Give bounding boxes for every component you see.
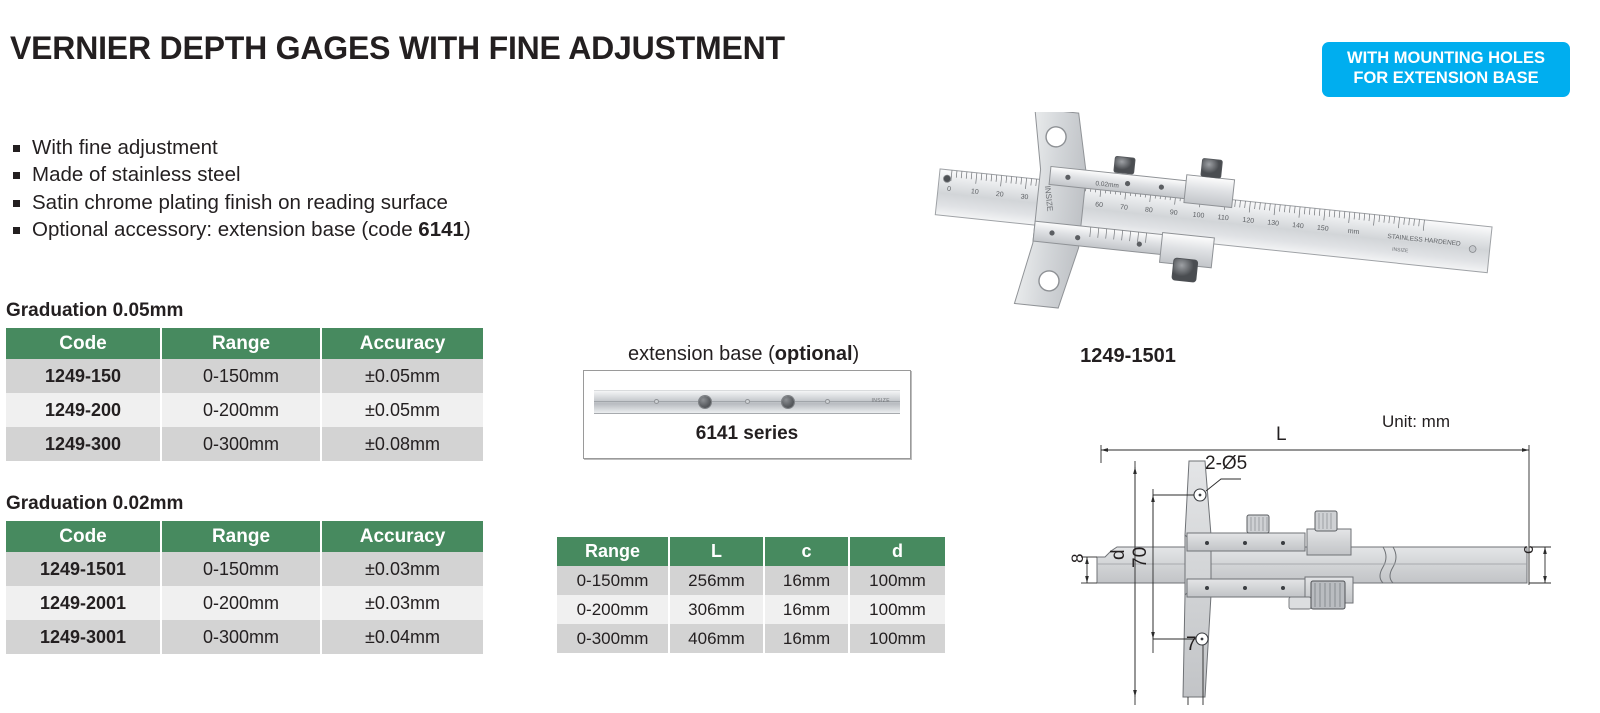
graduation-002-caption: Graduation 0.02mm	[6, 493, 183, 515]
column-header-accuracy: Accuracy	[321, 328, 483, 359]
cell-accuracy: ±0.05mm	[321, 393, 483, 427]
screw-post-icon	[782, 396, 794, 408]
cell-range: 0-200mm	[557, 595, 669, 624]
feature-code: 6141	[418, 218, 464, 241]
extension-caption-prefix: extension base (	[628, 343, 775, 365]
dimension-label-70: 70	[1130, 547, 1152, 568]
cell-range: 0-200mm	[161, 586, 321, 620]
svg-text:20: 20	[995, 191, 1004, 199]
dimension-label-holes: 2-Ø5	[1205, 453, 1247, 475]
column-header-c: c	[764, 537, 849, 566]
table-header-row: Code Range Accuracy	[6, 521, 483, 552]
screw-post-icon	[699, 396, 711, 408]
feature-list: With fine adjustment Made of stainless s…	[10, 134, 471, 243]
extension-caption-suffix: )	[853, 343, 860, 365]
feature-text: With fine adjustment	[32, 136, 218, 159]
table-row: 0-300mm 406mm 16mm 100mm	[557, 624, 945, 653]
extension-base-caption: extension base (optional)	[628, 343, 859, 366]
svg-text:120: 120	[1242, 217, 1254, 225]
column-header-range: Range	[161, 521, 321, 552]
cell-accuracy: ±0.03mm	[321, 552, 483, 586]
extension-base-photo-box: INSIZE 6141 series	[583, 370, 911, 459]
list-item: With fine adjustment	[10, 134, 471, 161]
cell-accuracy: ±0.08mm	[321, 427, 483, 461]
cell-code: 1249-300	[6, 427, 161, 461]
dimension-label-d: d	[1108, 549, 1130, 560]
product-photo: 0 10 20 30 40 50 60 70 80 90 100 110 120…	[895, 112, 1520, 334]
cell-l: 306mm	[669, 595, 764, 624]
svg-text:90: 90	[1169, 209, 1178, 217]
svg-text:70: 70	[1120, 204, 1129, 212]
cell-l: 406mm	[669, 624, 764, 653]
column-header-d: d	[849, 537, 945, 566]
cell-code: 1249-3001	[6, 620, 161, 654]
extension-caption-optional: optional	[775, 343, 853, 365]
feature-text: Satin chrome plating finish on reading s…	[32, 191, 448, 214]
column-header-accuracy: Accuracy	[321, 521, 483, 552]
graduation-005-caption: Graduation 0.05mm	[6, 300, 183, 322]
column-header-code: Code	[6, 328, 161, 359]
svg-text:110: 110	[1217, 214, 1229, 222]
dimensions-table: Range L c d 0-150mm 256mm 16mm 100mm 0-2…	[557, 537, 945, 653]
cell-accuracy: ±0.03mm	[321, 586, 483, 620]
dimension-label-L: L	[1276, 424, 1287, 446]
cell-range: 0-200mm	[161, 393, 321, 427]
svg-text:150: 150	[1317, 225, 1329, 233]
table-header-row: Code Range Accuracy	[6, 328, 483, 359]
dimension-label-7: 7	[1186, 634, 1197, 656]
table-row: 1249-300 0-300mm ±0.08mm	[6, 427, 483, 461]
list-item: Optional accessory: extension base (code…	[10, 216, 471, 243]
list-item: Satin chrome plating finish on reading s…	[10, 189, 471, 216]
cell-d: 100mm	[849, 566, 945, 595]
svg-text:60: 60	[1095, 201, 1104, 209]
svg-text:130: 130	[1267, 219, 1279, 227]
cell-code: 1249-2001	[6, 586, 161, 620]
cell-code: 1249-1501	[6, 552, 161, 586]
list-item: Made of stainless steel	[10, 161, 471, 188]
depth-gage-illustration: 0 10 20 30 40 50 60 70 80 90 100 110 120…	[895, 112, 1520, 334]
status-badge: WITH MOUNTING HOLES FOR EXTENSION BASE	[1322, 42, 1570, 97]
feature-text: Made of stainless steel	[32, 163, 241, 186]
cell-accuracy: ±0.04mm	[321, 620, 483, 654]
dimension-label-c: c	[1518, 546, 1538, 555]
mounting-hole-icon	[745, 399, 750, 404]
svg-text:100: 100	[1192, 212, 1204, 220]
table-row: 1249-150 0-150mm ±0.05mm	[6, 359, 483, 393]
table-row: 1249-3001 0-300mm ±0.04mm	[6, 620, 483, 654]
table-row: 0-200mm 306mm 16mm 100mm	[557, 595, 945, 624]
cell-c: 16mm	[764, 566, 849, 595]
cell-accuracy: ±0.05mm	[321, 359, 483, 393]
cell-range: 0-300mm	[161, 620, 321, 654]
feature-text-suffix: )	[464, 218, 471, 241]
column-header-range: Range	[161, 328, 321, 359]
cell-d: 100mm	[849, 624, 945, 653]
extension-base-series-label: 6141 series	[584, 423, 910, 445]
brand-mark: INSIZE	[871, 398, 890, 404]
column-header-range: Range	[557, 537, 669, 566]
extension-base-bar-image: INSIZE	[594, 390, 900, 414]
dimension-label-8: 8	[1068, 554, 1088, 563]
column-header-code: Code	[6, 521, 161, 552]
column-header-l: L	[669, 537, 764, 566]
badge-line-1: WITH MOUNTING HOLES	[1330, 48, 1562, 68]
cell-c: 16mm	[764, 624, 849, 653]
cell-c: 16mm	[764, 595, 849, 624]
cell-code: 1249-150	[6, 359, 161, 393]
svg-text:140: 140	[1292, 222, 1304, 230]
svg-text:80: 80	[1145, 207, 1154, 215]
feature-text-prefix: Optional accessory: extension base (code	[32, 218, 418, 241]
mounting-hole-icon	[654, 399, 659, 404]
mounting-hole-icon	[825, 399, 830, 404]
badge-line-2: FOR EXTENSION BASE	[1330, 68, 1562, 88]
svg-text:mm: mm	[1347, 228, 1359, 236]
svg-text:30: 30	[1020, 194, 1029, 202]
table-row: 0-150mm 256mm 16mm 100mm	[557, 566, 945, 595]
cell-d: 100mm	[849, 595, 945, 624]
graduation-005-table: Code Range Accuracy 1249-150 0-150mm ±0.…	[6, 328, 483, 461]
table-row: 1249-2001 0-200mm ±0.03mm	[6, 586, 483, 620]
product-photo-caption: 1249-1501	[1028, 345, 1228, 368]
cell-l: 256mm	[669, 566, 764, 595]
page-title: VERNIER DEPTH GAGES WITH FINE ADJUSTMENT	[10, 30, 785, 67]
cell-code: 1249-200	[6, 393, 161, 427]
cell-range: 0-150mm	[161, 552, 321, 586]
cell-range: 0-300mm	[557, 624, 669, 653]
table-header-row: Range L c d	[557, 537, 945, 566]
table-row: 1249-1501 0-150mm ±0.03mm	[6, 552, 483, 586]
graduation-002-table: Code Range Accuracy 1249-1501 0-150mm ±0…	[6, 521, 483, 654]
cell-range: 0-150mm	[161, 359, 321, 393]
table-row: 1249-200 0-200mm ±0.05mm	[6, 393, 483, 427]
svg-text:10: 10	[971, 188, 980, 196]
cell-range: 0-300mm	[161, 427, 321, 461]
cell-range: 0-150mm	[557, 566, 669, 595]
